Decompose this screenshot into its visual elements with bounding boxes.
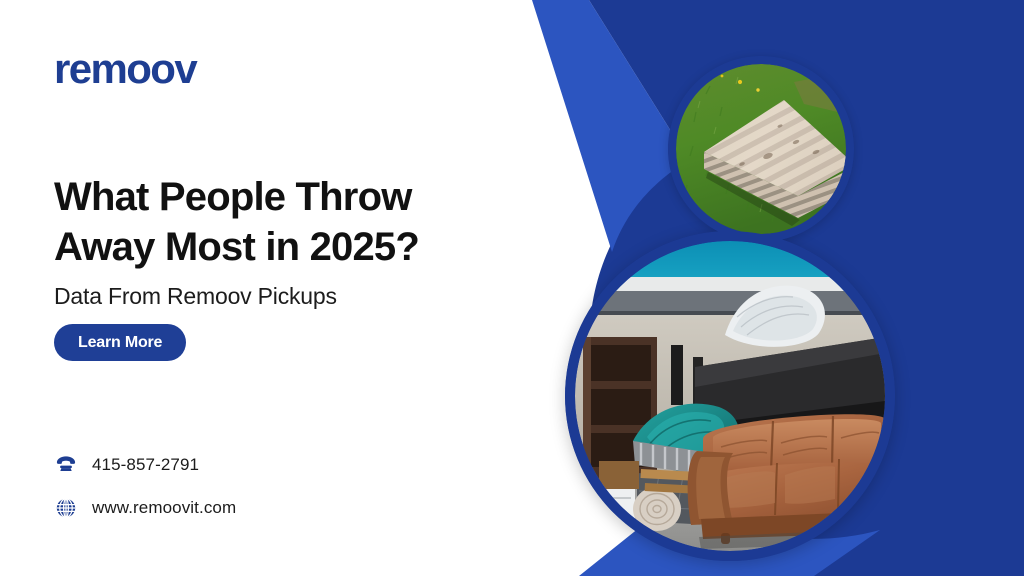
contact-info: 415-857-2791 [54, 450, 236, 536]
phone-number: 415-857-2791 [92, 455, 199, 475]
headline-line-2: Away Most in 2025? [54, 225, 419, 269]
marketing-banner: remoov What People Throw Away Most in 20… [0, 0, 1024, 576]
photo-circle-furniture [565, 231, 895, 561]
content-column: remoov What People Throw Away Most in 20… [0, 0, 560, 576]
learn-more-button[interactable]: Learn More [54, 324, 186, 361]
contact-row-website[interactable]: www.remoovit.com [54, 493, 236, 523]
page-subtitle: Data From Remoov Pickups [54, 283, 337, 310]
photo-mattress-image [676, 64, 846, 234]
page-title: What People Throw Away Most in 2025? [54, 172, 524, 273]
headline-line-1: What People Throw [54, 175, 412, 219]
photo-circle-mattress [668, 56, 854, 242]
website-url: www.remoovit.com [92, 498, 236, 518]
contact-row-phone[interactable]: 415-857-2791 [54, 450, 236, 480]
brand-logo[interactable]: remoov [54, 48, 196, 90]
telephone-icon [54, 453, 78, 477]
globe-icon [54, 496, 78, 520]
photo-furniture-image [575, 241, 885, 551]
